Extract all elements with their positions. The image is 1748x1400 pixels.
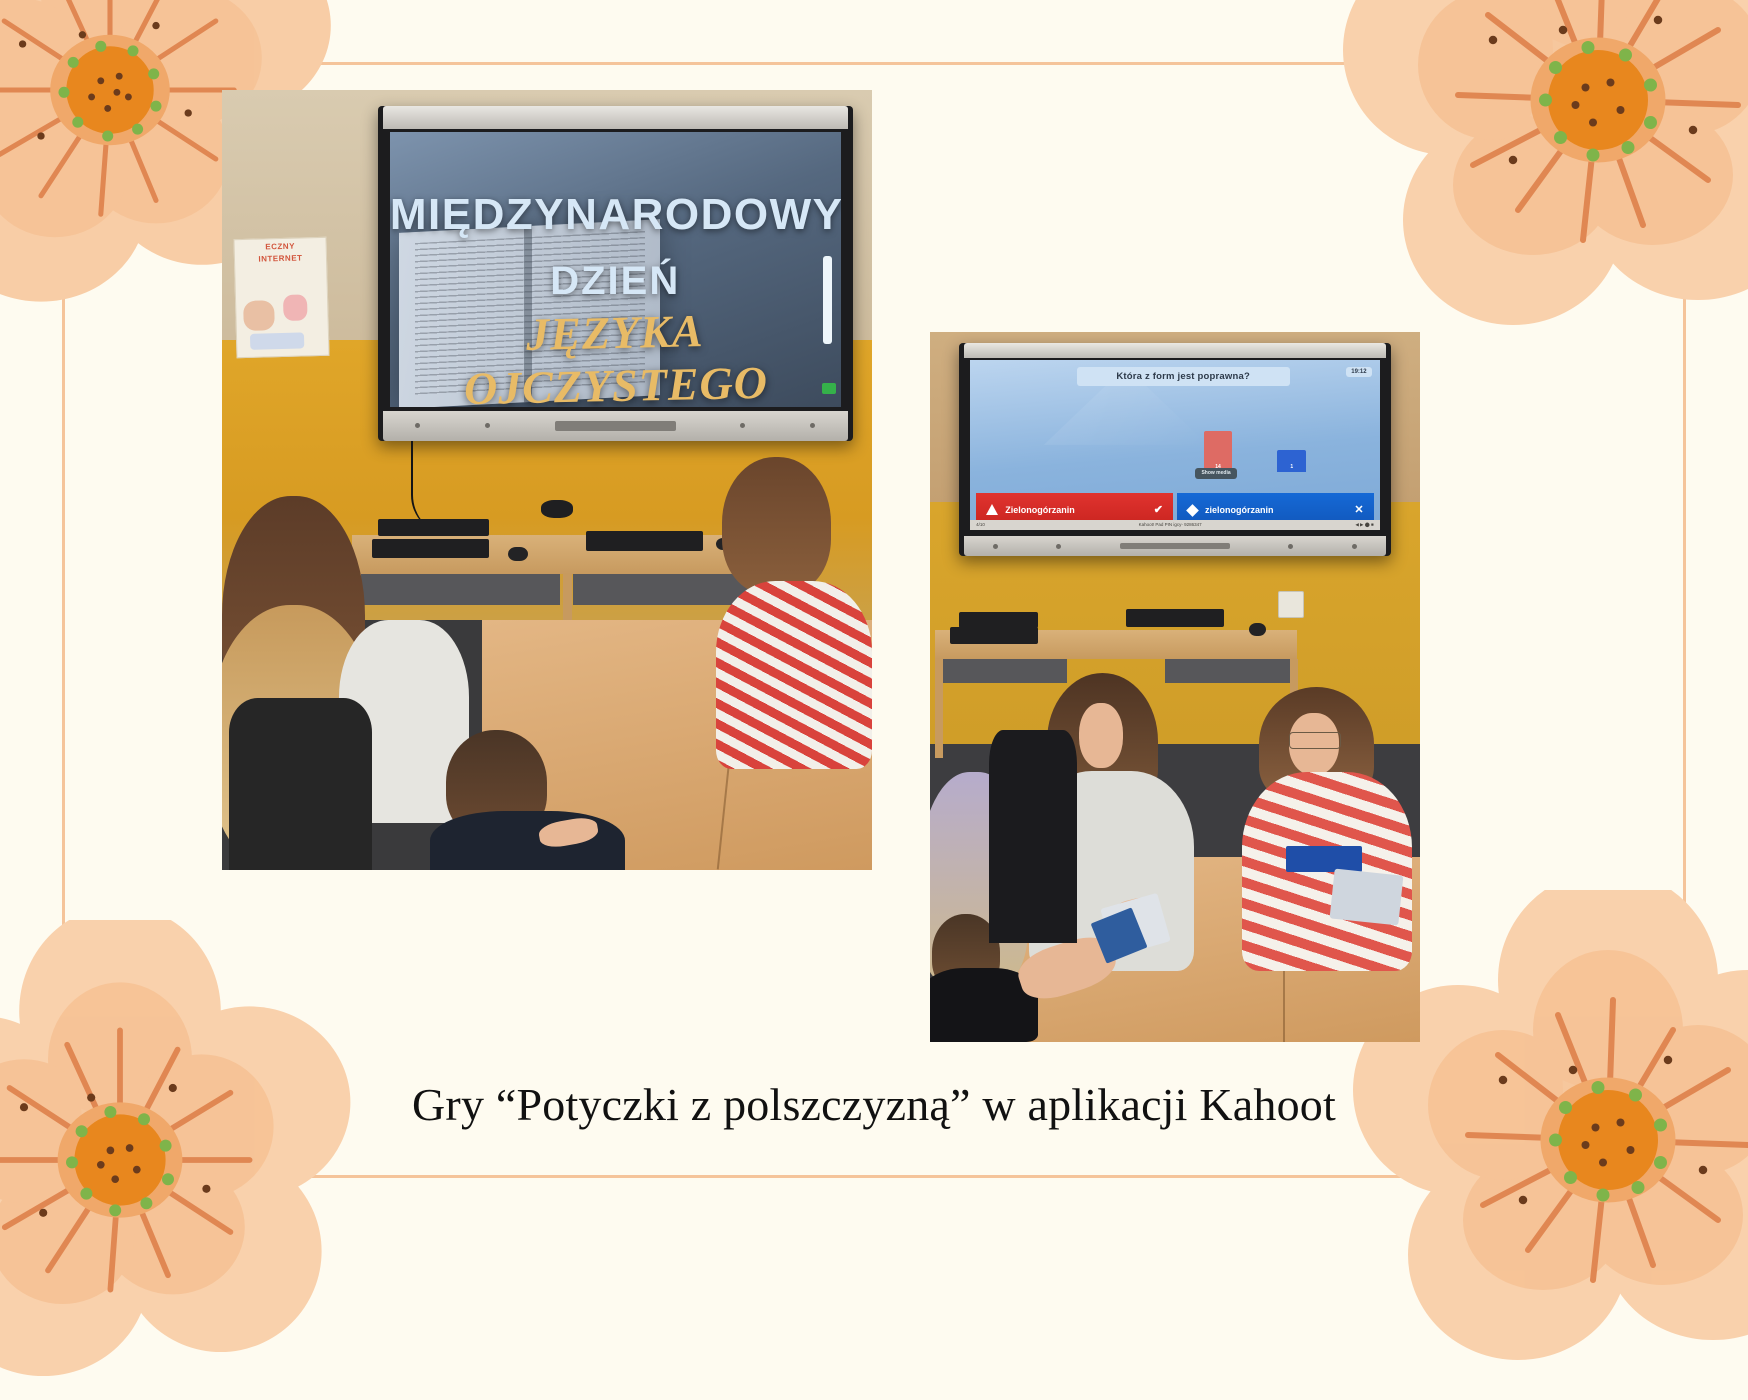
- classroom-scene-two: Która z form jest poprawna? 19:12 14 1 S…: [930, 332, 1420, 1042]
- keyboard-left[interactable]: [378, 519, 489, 536]
- kahoot-status-center: Kahoot! Pad PIN igcy- 9286347: [1139, 522, 1202, 527]
- bezel-button-icon[interactable]: [415, 423, 420, 428]
- bezel-button-icon[interactable]: [993, 544, 998, 549]
- whiteboard-screen-two: Która z form jest poprawna? 19:12 14 1 S…: [970, 360, 1380, 530]
- keyboard-right[interactable]: [1126, 609, 1224, 627]
- poster-doodle-c: [250, 332, 305, 350]
- whiteboard-screen-one: MIĘDZYNARODOWY DZIEŃ JĘZYKA OJCZYSTEGO: [390, 132, 841, 407]
- bezel-button-icon[interactable]: [740, 423, 745, 428]
- kahoot-bar-red: 14: [1204, 431, 1233, 472]
- student-right: [1253, 687, 1400, 971]
- wall-outlet: [1278, 591, 1305, 618]
- classroom-scene-one: ECZNY INTERNET MIĘDZYNARODOWY DZIEŃ JĘZY…: [222, 90, 872, 870]
- slide-title-line-2: DZIEŃ: [390, 259, 841, 304]
- volume-indicator: [823, 256, 832, 344]
- whiteboard-top-bezel: [383, 106, 848, 129]
- kahoot-answer-label-red: Zielonogórzanin: [1005, 505, 1075, 515]
- poster-doodle-a: [243, 300, 275, 331]
- computer-unit-left: [950, 627, 1038, 644]
- chair-back: [989, 730, 1077, 943]
- bezel-button-icon[interactable]: [1288, 544, 1293, 549]
- classroom-presentation-photo: ECZNY INTERNET MIĘDZYNARODOWY DZIEŃ JĘZY…: [222, 90, 872, 870]
- presentation-slide: MIĘDZYNARODOWY DZIEŃ JĘZYKA OJCZYSTEGO: [390, 132, 841, 407]
- whiteboard-bottom-bezel[interactable]: [964, 536, 1387, 555]
- bezel-button-icon[interactable]: [485, 423, 490, 428]
- bezel-button-icon[interactable]: [810, 423, 815, 428]
- kahoot-status-bar: 4/10 Kahoot! Pad PIN igcy- 9286347 ◀ ▶ ⬤…: [970, 520, 1380, 530]
- poster-doodle-b: [283, 295, 307, 321]
- slide-title-line-1: MIĘDZYNARODOWY: [390, 190, 841, 240]
- slide-title-line-3: JĘZYKA OJCZYSTEGO: [390, 301, 841, 407]
- kahoot-results-screen: Która z form jest poprawna? 19:12 14 1 S…: [970, 360, 1380, 530]
- speaker-icon: [822, 383, 836, 394]
- shirt-graphic: [1286, 846, 1362, 872]
- whiteboard-top-bezel: [964, 343, 1387, 358]
- mouse-right[interactable]: [1249, 623, 1266, 636]
- cross-icon: ✕: [1354, 503, 1363, 516]
- triangle-icon: [986, 504, 998, 515]
- mouse-left[interactable]: [508, 547, 528, 561]
- student-foreground-boy: [430, 730, 625, 870]
- smartphone-right[interactable]: [1329, 868, 1402, 925]
- bezel-button-icon[interactable]: [1352, 544, 1357, 549]
- show-media-button[interactable]: Show media: [1195, 468, 1236, 479]
- whiteboard-bottom-bezel[interactable]: [383, 411, 848, 441]
- bezel-speaker-grille: [555, 421, 676, 431]
- student-torso: [430, 811, 625, 870]
- page-caption: Gry “Potyczki z polszczyzną” w aplikacji…: [0, 1078, 1748, 1131]
- desk-panel-left: [359, 574, 561, 605]
- student-striped-shirt: [716, 581, 872, 768]
- chair-back: [229, 698, 372, 870]
- poster-title-line-2: INTERNET: [235, 250, 326, 264]
- student-striped-shirt: [1242, 772, 1413, 971]
- kahoot-bar-blue: 1: [1277, 450, 1306, 472]
- diamond-icon: [1186, 504, 1199, 517]
- headphones: [541, 500, 574, 519]
- student-hair: [722, 457, 831, 594]
- wall-poster: ECZNY INTERNET: [233, 237, 329, 358]
- glasses-icon: [1289, 732, 1341, 748]
- kahoot-quiz-photo: Która z form jest poprawna? 19:12 14 1 S…: [930, 332, 1420, 1042]
- kahoot-bar-label-blue: 1: [1277, 464, 1306, 470]
- kahoot-corner-badge: 19:12: [1346, 367, 1371, 377]
- student-face: [1079, 703, 1123, 769]
- computer-unit-left: [372, 539, 489, 558]
- kahoot-status-left: 4/10: [976, 522, 985, 527]
- check-icon: ✔: [1154, 503, 1163, 516]
- interactive-whiteboard-two[interactable]: Która z form jest poprawna? 19:12 14 1 S…: [959, 343, 1390, 556]
- kahoot-status-right: ◀ ▶ ⬤ ■: [1355, 522, 1373, 528]
- keyboard-left[interactable]: [959, 612, 1037, 628]
- bezel-speaker-grille: [1120, 543, 1230, 549]
- kahoot-answer-label-blue: zielonogórzanin: [1205, 505, 1274, 515]
- keyboard-right[interactable]: [586, 531, 703, 551]
- kahoot-question: Która z form jest poprawna?: [1077, 367, 1290, 386]
- student-striped-right: [716, 457, 872, 769]
- desk-leg-left: [935, 659, 943, 758]
- bezel-button-icon[interactable]: [1056, 544, 1061, 549]
- interactive-whiteboard-one[interactable]: MIĘDZYNARODOWY DZIEŃ JĘZYKA OJCZYSTEGO: [378, 106, 853, 441]
